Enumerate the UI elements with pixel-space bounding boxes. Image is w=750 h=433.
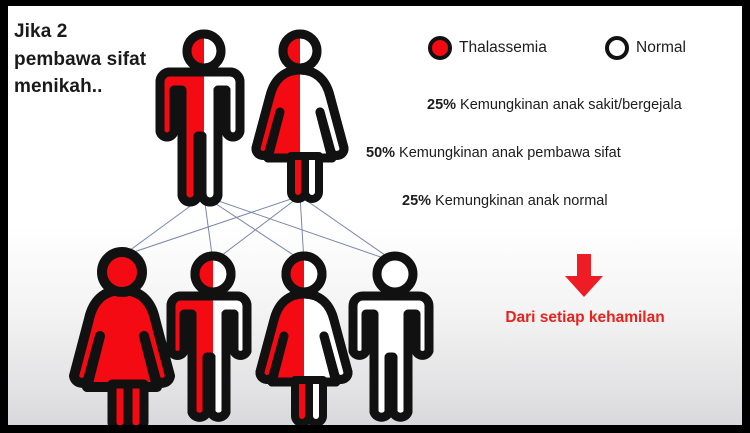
poster-canvas: Jika 2 pembawa sifat menikah.. Thalassem… xyxy=(8,6,742,425)
figure-mother xyxy=(256,34,344,199)
figure-child-4 xyxy=(353,256,429,417)
figure-father xyxy=(160,34,240,202)
poster-frame: Jika 2 pembawa sifat menikah.. Thalassem… xyxy=(0,0,750,433)
figure-child-2 xyxy=(171,256,247,417)
inheritance-links xyxy=(122,196,395,262)
pedigree-diagram xyxy=(8,6,742,425)
figure-child-1 xyxy=(74,252,170,425)
figure-child-3 xyxy=(260,256,348,423)
